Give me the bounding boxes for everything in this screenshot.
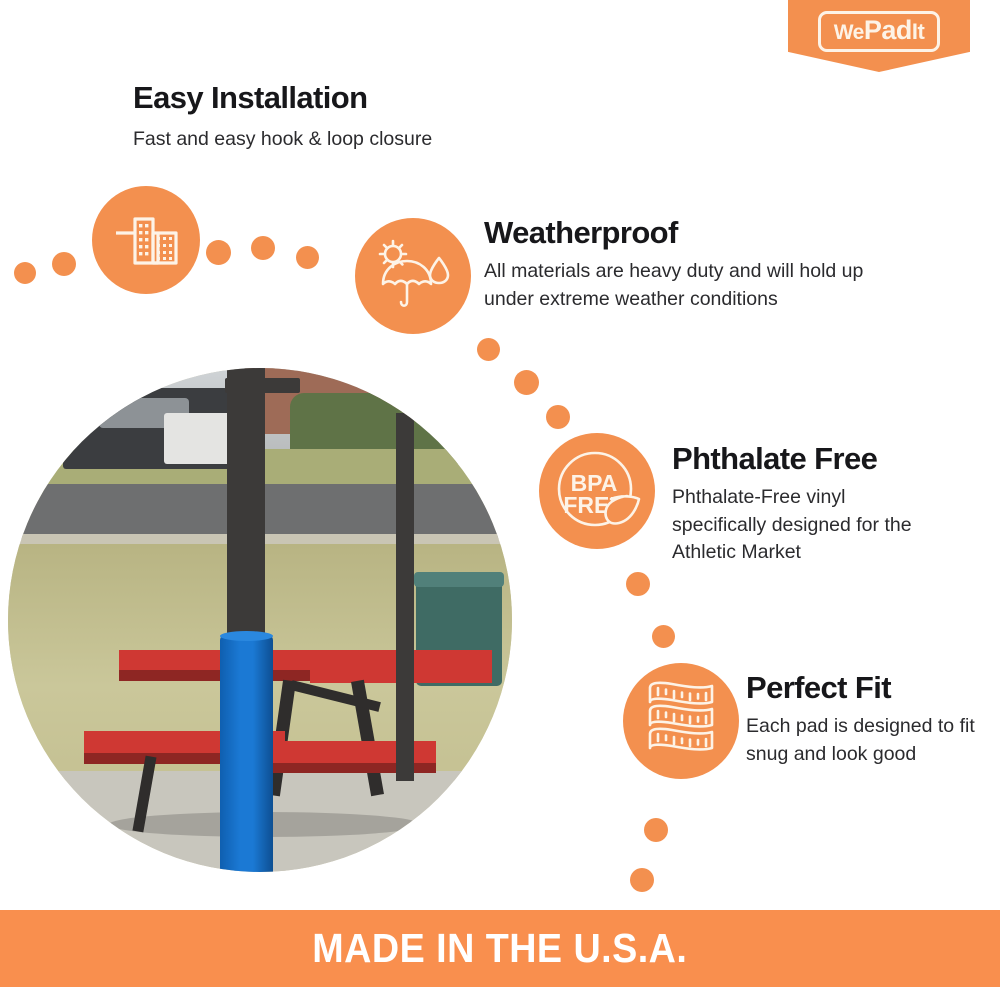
photo-post-secondary: [396, 413, 414, 781]
feature-title-perfect-fit: Perfect Fit: [746, 670, 891, 706]
feature-icon-phthalate-free: BPA FREE: [539, 433, 655, 549]
trail-dot: [477, 338, 500, 361]
brand-logo-text: WePadIt: [834, 17, 925, 45]
feature-title-weatherproof: Weatherproof: [484, 215, 678, 251]
brand-logo-we: We: [834, 21, 864, 44]
feature-description-easy-installation: Fast and easy hook & loop closure: [133, 126, 553, 154]
made-in-usa-banner: MADE IN THE U.S.A.: [0, 910, 1000, 987]
feature-description-weatherproof: All materials are heavy duty and will ho…: [484, 258, 904, 313]
trail-dot: [251, 236, 275, 260]
product-photo: [8, 368, 512, 872]
photo-suv-bumper: [164, 413, 235, 463]
trail-dot: [626, 572, 650, 596]
trail-dot: [52, 252, 76, 276]
trail-dot: [206, 240, 231, 265]
building-icon: [113, 211, 179, 269]
photo-trash-can-rim: [414, 572, 505, 587]
brand-logo-pad: Pad: [864, 15, 912, 45]
brand-logo-frame: WePadIt: [818, 11, 941, 52]
feature-description-phthalate-free: Phthalate-Free vinyl specifically design…: [672, 484, 932, 567]
feature-icon-perfect-fit: [623, 663, 739, 779]
trail-dot: [14, 262, 36, 284]
brand-logo-it: It: [912, 19, 924, 44]
feature-title-easy-installation: Easy Installation: [133, 80, 367, 116]
trail-dot: [630, 868, 654, 892]
feature-description-perfect-fit: Each pad is designed to fit snug and loo…: [746, 713, 976, 768]
sun-umbrella-raindrop-icon: [373, 239, 453, 313]
trail-dot: [652, 625, 675, 648]
feature-title-phthalate-free: Phthalate Free: [672, 441, 877, 477]
trail-dot: [644, 818, 668, 842]
feature-icon-easy-installation: [92, 186, 200, 294]
trail-dot: [514, 370, 539, 395]
trail-dot: [546, 405, 570, 429]
photo-blue-pole-pad: [220, 635, 273, 872]
trail-dot: [296, 246, 319, 269]
product-photo-scene: [8, 368, 512, 872]
measuring-tape-icon: [638, 680, 724, 762]
infographic-page: WePadIt Easy Installation Fast and easy …: [0, 0, 1000, 987]
brand-logo-badge: WePadIt: [788, 0, 970, 72]
made-in-usa-text: MADE IN THE U.S.A.: [312, 925, 687, 972]
photo-pole-pad-top: [220, 631, 273, 641]
feature-icon-weatherproof: [355, 218, 471, 334]
bpa-free-leaf-icon: BPA FREE: [549, 443, 645, 539]
